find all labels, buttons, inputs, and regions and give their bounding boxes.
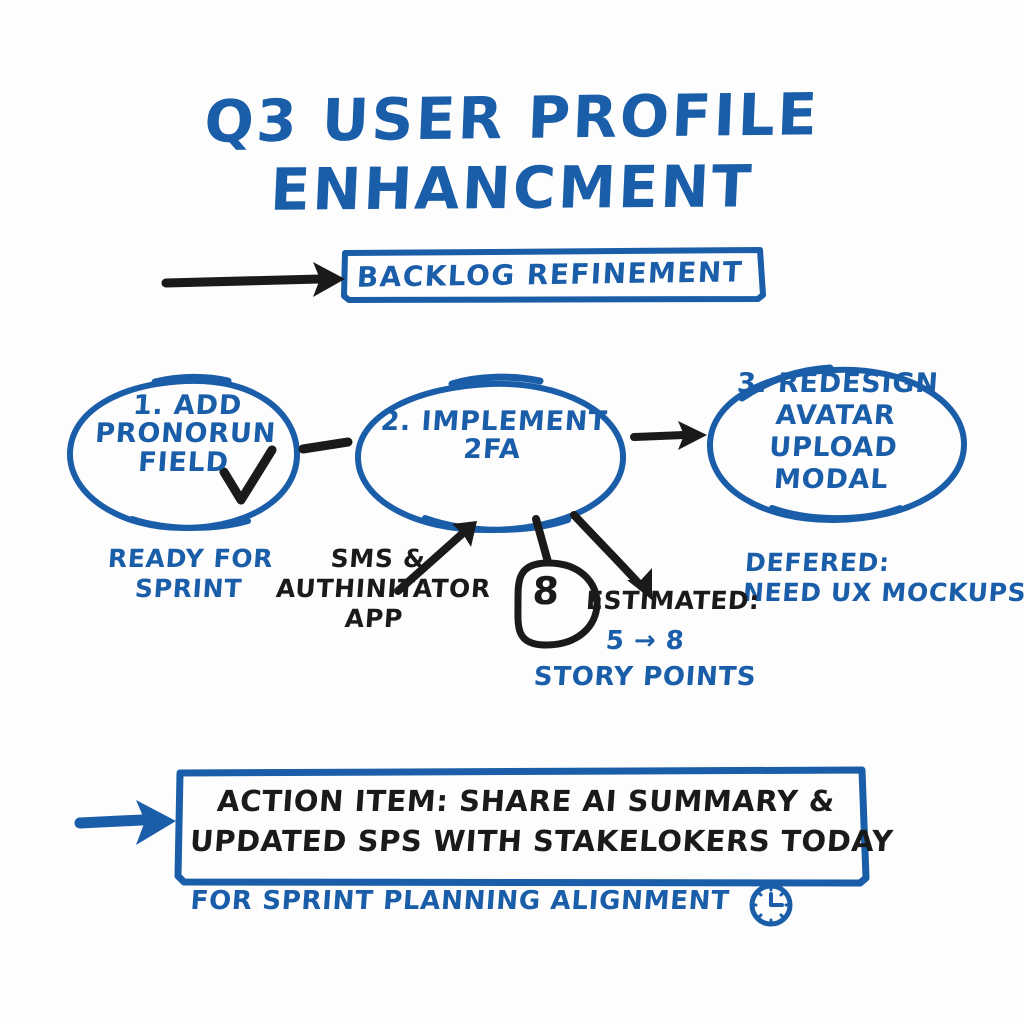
node-2-status-note: SMS & AUTHINITATOR APP [273,544,479,634]
connector-node1-node2 [303,442,348,449]
estimate-label: ESTIMATED: [585,588,760,614]
node-2-label: 2. IMPLEMENT 2FA [356,408,630,465]
subtitle-arrow-icon [166,262,345,297]
page-title-line-2: ENHANCMENT [0,154,1024,222]
node-1-label: 1. ADD PRONORUN FIELD [75,392,296,477]
action-item-line-1: ACTION ITEM: SHARE AI SUMMARY & [195,786,857,816]
node-3-label: 3. REDESIGN AVATAR UPLOAD MODAL [718,368,952,495]
connector-node2-storypoints-tick [536,519,548,562]
page-title-line-1: Q3 USER PROFILE [0,82,1024,155]
node-1-status-note: READY FOR SPRINT [80,544,299,604]
estimate-circled-value: 8 [517,572,575,612]
action-arrow-icon [80,800,176,845]
action-item-line-2: UPDATED SPS WITH STAKELOKERS TODAY [189,826,861,856]
action-item-footnote: FOR SPRINT PLANNING ALIGNMENT [179,888,741,915]
subtitle-label: BACKLOG REFINEMENT [339,257,761,292]
node-3-status-note: DEFERED: NEED UX MOCKUPS [742,548,1024,608]
estimate-unit-label: STORY POINTS [519,664,771,691]
estimate-change-value: 5 → 8 [559,628,731,655]
clock-icon [748,882,794,928]
connector-node2-node3-arrow [634,421,707,450]
whiteboard-canvas: .ink-blue { stroke: #1a5da8; fill: none;… [0,0,1024,1024]
